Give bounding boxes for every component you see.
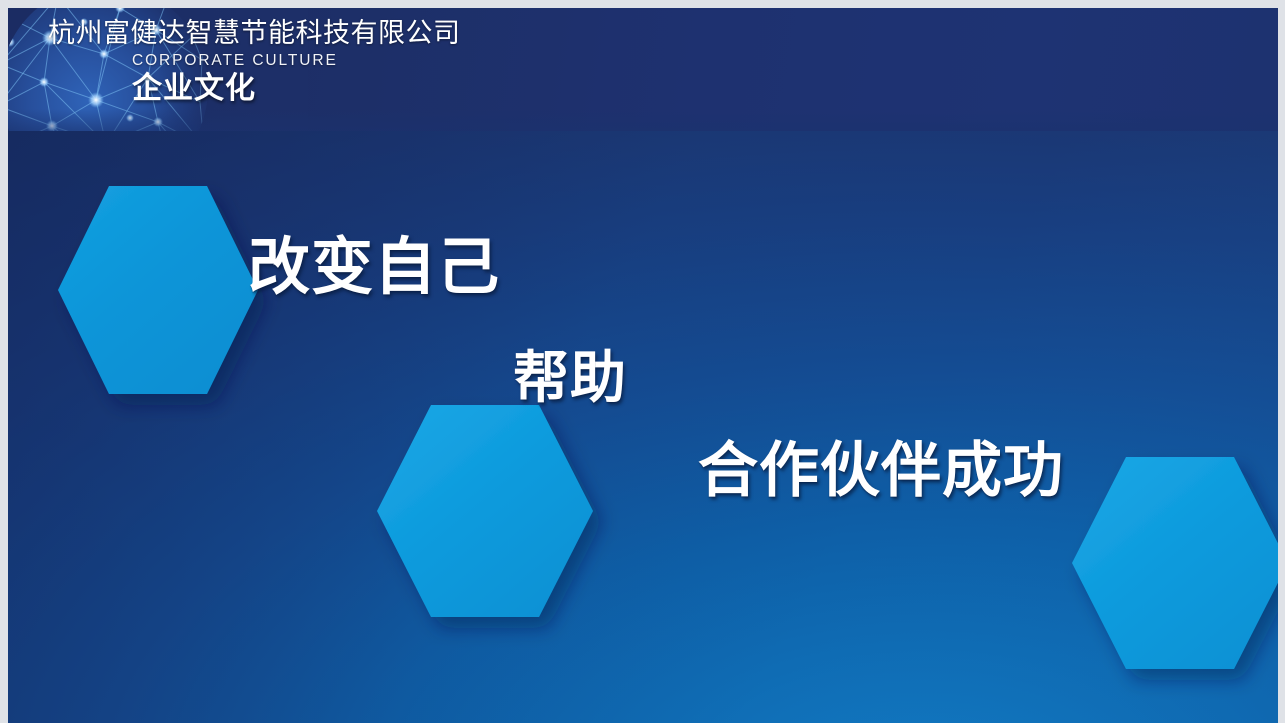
- slide-edge-top: [0, 0, 1285, 8]
- slide-canvas: 杭州富健达智慧节能科技有限公司 CORPORATE CULTURE 企业文化: [8, 8, 1278, 723]
- header-band: 杭州富健达智慧节能科技有限公司 CORPORATE CULTURE 企业文化: [8, 8, 1278, 131]
- company-name: 杭州富健达智慧节能科技有限公司: [48, 17, 461, 49]
- slide-edge-left: [0, 0, 8, 723]
- section-title-en: CORPORATE CULTURE: [132, 51, 461, 70]
- section-title-cn: 企业文化: [132, 70, 461, 108]
- slogan-partner-success: 合作伙伴成功: [698, 436, 1064, 506]
- hexagon-shape-3: [1061, 448, 1278, 693]
- section-title-block: CORPORATE CULTURE 企业文化: [132, 51, 461, 108]
- presentation-slide: 杭州富健达智慧节能科技有限公司 CORPORATE CULTURE 企业文化: [0, 0, 1285, 723]
- hexagon-shape-2: [366, 396, 616, 641]
- slogan-help: 帮助: [513, 345, 627, 411]
- slogan-change-self: 改变自己: [248, 232, 500, 304]
- header-text-block: 杭州富健达智慧节能科技有限公司 CORPORATE CULTURE 企业文化: [48, 17, 461, 108]
- slide-edge-right: [1278, 0, 1285, 723]
